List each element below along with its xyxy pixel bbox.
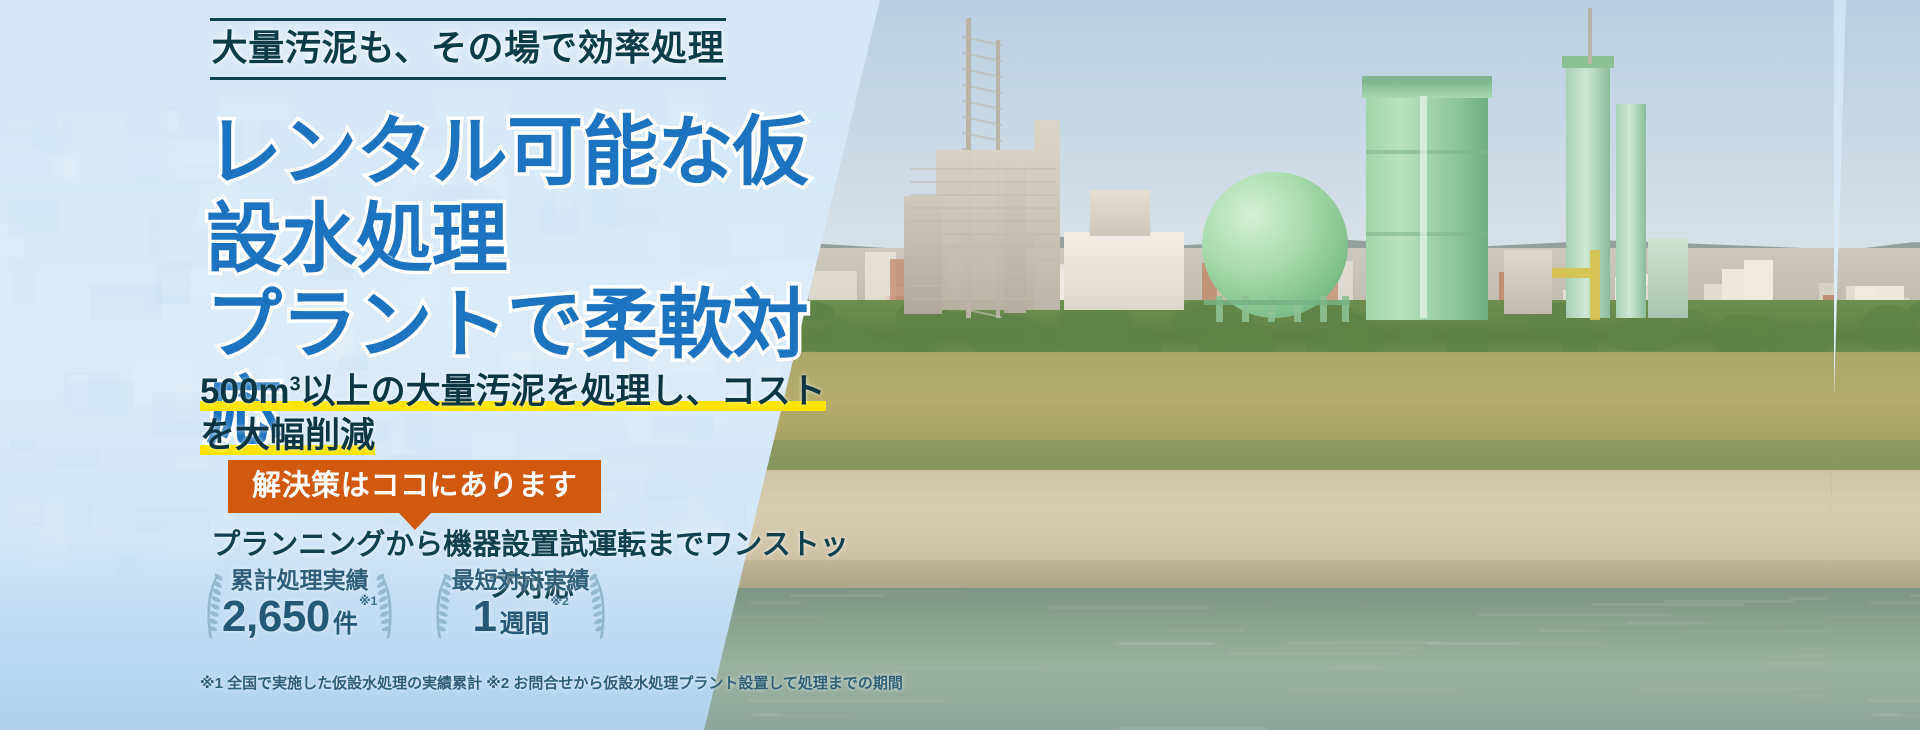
footnote-text: ※1 全国で実施した仮設水処理の実績累計 ※2 お問合せから仮設水処理プラント設… bbox=[200, 675, 903, 692]
photo-water-ripple bbox=[1048, 606, 1209, 609]
eyebrow-heading: 大量汚泥も、その場で効率処理 bbox=[210, 18, 726, 80]
photo-water-ripple bbox=[1270, 602, 1362, 605]
photo-structure bbox=[910, 259, 1056, 261]
photo-water-ripple bbox=[1120, 642, 1214, 645]
photo-structure bbox=[1204, 300, 1350, 305]
stat-footnote-marker: ※2 bbox=[550, 595, 568, 607]
laurel-wreath-left-icon bbox=[194, 572, 228, 641]
photo-water-ripple bbox=[1790, 597, 1834, 600]
photo-structure bbox=[1090, 190, 1150, 236]
photo-water-ripple bbox=[1169, 629, 1246, 632]
stat-label: 累計処理実績 bbox=[222, 568, 377, 593]
photo-water-ripple bbox=[1868, 601, 1920, 604]
hero-banner: 大量汚泥も、その場で効率処理 レンタル可能な仮設水処理 プラントで柔軟対応 50… bbox=[0, 0, 1920, 730]
photo-structure bbox=[1588, 8, 1592, 64]
stat-unit: 週間 bbox=[499, 612, 549, 637]
photo-structure bbox=[910, 220, 1056, 222]
photo-water-ripple bbox=[1287, 641, 1440, 644]
photo-water-ripple bbox=[1457, 725, 1528, 728]
subheadline-prefix: 500m bbox=[200, 372, 290, 411]
photo-water-ripple bbox=[1427, 642, 1519, 645]
photo-water-ripple bbox=[1639, 687, 1834, 690]
photo-structure bbox=[1366, 232, 1488, 236]
photo-water-ripple bbox=[1329, 666, 1381, 669]
photo-bush bbox=[1606, 322, 1679, 351]
photo-structure bbox=[1566, 66, 1610, 318]
photo-water-ripple bbox=[1338, 647, 1421, 650]
photo-water-ripple bbox=[1288, 690, 1461, 693]
photo-structure bbox=[910, 194, 1056, 196]
photo-structure bbox=[1064, 232, 1184, 310]
photo-structure bbox=[904, 196, 942, 314]
photo-water-ripple bbox=[1538, 629, 1601, 632]
photo-bush bbox=[1398, 325, 1437, 341]
laurel-wreath-right-icon bbox=[371, 572, 405, 641]
footnote: ※1 全国で実施した仮設水処理の実績累計 ※2 お問合せから仮設水処理プラント設… bbox=[200, 672, 860, 693]
stat-item: 最短対応実績 1 週間 ※2 bbox=[425, 568, 616, 639]
photo-structure bbox=[1504, 250, 1552, 314]
photo-structure bbox=[910, 298, 1056, 300]
solution-badge: 解決策はココにあります bbox=[228, 460, 601, 513]
stats-row: 累計処理実績 2,650 件 ※1 bbox=[196, 568, 616, 639]
stat-label: 最短対応実績 bbox=[451, 568, 590, 593]
stat-value: 2,650 bbox=[222, 595, 330, 639]
subheadline: 500m3以上の大量汚泥を処理し、コストを大幅削減 bbox=[200, 370, 860, 458]
photo-structure bbox=[1648, 238, 1688, 318]
banner-content: 大量汚泥も、その場で効率処理 レンタル可能な仮設水処理 プラントで柔軟対応 50… bbox=[0, 0, 860, 730]
stat-value-row: 1 週間 ※2 bbox=[451, 595, 590, 639]
stat-value: 1 bbox=[472, 595, 496, 639]
photo-structure bbox=[910, 207, 1056, 209]
photo-structure bbox=[1034, 120, 1060, 310]
photo-structure bbox=[1420, 96, 1427, 318]
photo-structure bbox=[910, 246, 1056, 248]
photo-water-ripple bbox=[1627, 621, 1706, 624]
photo-water-ripple bbox=[1229, 652, 1401, 655]
laurel-wreath-right-icon bbox=[584, 572, 618, 641]
photo-water-ripple bbox=[889, 666, 1047, 669]
stat-item: 累計処理実績 2,650 件 ※1 bbox=[196, 568, 403, 639]
subheadline-superscript: 3 bbox=[290, 373, 301, 395]
solution-badge-label: 解決策はココにあります bbox=[252, 470, 577, 502]
photo-water-ripple bbox=[1591, 603, 1744, 606]
photo-structure bbox=[1366, 92, 1488, 320]
photo-structure bbox=[1362, 76, 1492, 83]
photo-bush bbox=[1735, 316, 1782, 336]
photo-structure bbox=[910, 181, 1056, 183]
eyebrow-text: 大量汚泥も、その場で効率処理 bbox=[210, 28, 726, 68]
photo-water-ripple bbox=[1881, 714, 1920, 717]
headline-line-1: レンタル可能な仮設水処理 bbox=[206, 110, 866, 283]
photo-water-ripple bbox=[1765, 662, 1834, 665]
photo-water-ripple bbox=[1686, 630, 1834, 633]
photo-water-ripple bbox=[1867, 699, 1920, 702]
photo-structure bbox=[1590, 250, 1600, 320]
photo-water-ripple bbox=[1910, 594, 1920, 597]
stat-value-row: 2,650 件 ※1 bbox=[222, 595, 377, 639]
photo-water-ripple bbox=[1478, 613, 1672, 616]
photo-structure bbox=[1366, 150, 1488, 154]
photo-structure bbox=[910, 168, 1056, 170]
hero-photo bbox=[704, 0, 1834, 730]
photo-structure bbox=[1004, 168, 1026, 313]
photo-water-ripple bbox=[1794, 654, 1826, 657]
stat-unit: 件 bbox=[333, 612, 358, 637]
laurel-wreath-left-icon bbox=[423, 572, 457, 641]
subheadline-highlight: 500m3以上の大量汚泥を処理し、コストを大幅削減 bbox=[200, 372, 826, 455]
photo-structure bbox=[910, 233, 1056, 235]
photo-structure bbox=[1616, 104, 1646, 318]
photo-structure bbox=[1362, 82, 1492, 98]
photo-structure bbox=[910, 272, 1056, 274]
photo-water-ripple bbox=[846, 591, 967, 594]
solution-badge-box: 解決策はココにあります bbox=[228, 460, 601, 513]
photo-water-ripple bbox=[1827, 615, 1920, 618]
photo-structure bbox=[910, 285, 1056, 287]
